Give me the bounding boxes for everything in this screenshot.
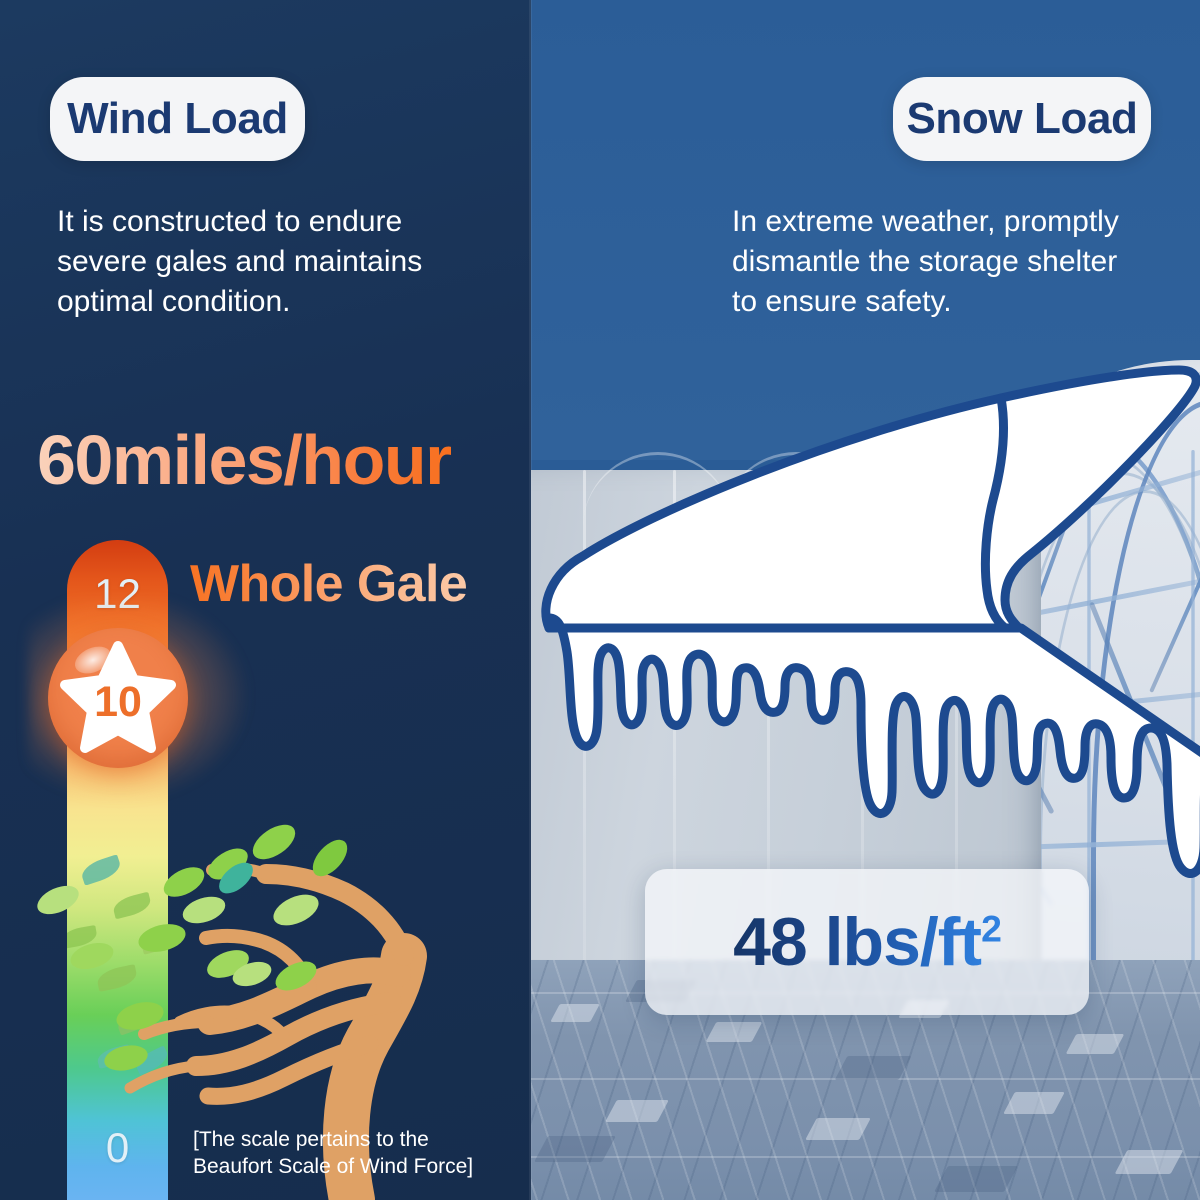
wind-load-description: It is constructed to endure severe gales… [57, 202, 487, 322]
snow-load-panel [531, 0, 1200, 1200]
snow-load-value-card: 48 lbs/ft2 [645, 869, 1089, 1015]
snow-load-pill-label: Snow Load [906, 94, 1137, 144]
panel-divider [529, 0, 532, 1200]
paver-highlight [805, 1118, 871, 1140]
tarp-arc-3 [861, 452, 1011, 635]
gale-category-label: Whole Gale [190, 554, 467, 614]
beaufort-scale-footnote: [The scale pertains to the Beaufort Scal… [193, 1126, 493, 1180]
snow-load-value: 48 lbs/ft2 [733, 903, 1001, 981]
paver-highlight [1003, 1092, 1065, 1114]
paver-shadow [835, 1056, 912, 1080]
wind-speed-headline: 60miles/hour [37, 420, 451, 500]
beaufort-level-badge[interactable]: 10 [48, 628, 188, 768]
paver-highlight [1115, 1150, 1184, 1174]
wind-load-pill[interactable]: Wind Load [50, 77, 305, 161]
snow-load-value-exponent: 2 [981, 907, 1001, 949]
vertical-post-3 [1191, 450, 1195, 970]
paver-shadow [934, 1166, 1018, 1192]
infographic-poster: 12 0 10 Wind Load Snow Load It is constr… [0, 0, 1200, 1200]
badge-value-label: 10 [48, 678, 188, 727]
paver-highlight [605, 1100, 669, 1122]
ground-band-3 [531, 1156, 1200, 1158]
snow-load-pill[interactable]: Snow Load [893, 77, 1151, 161]
snow-load-description: In extreme weather, promptly dismantle t… [732, 202, 1162, 322]
storage-shelter-photo [531, 0, 1200, 1200]
paver-highlight [706, 1022, 763, 1042]
snow-load-value-text: 48 lbs/ft [733, 904, 981, 980]
paver-highlight [1066, 1034, 1125, 1054]
tarp-arc-1 [583, 452, 733, 635]
wind-load-pill-label: Wind Load [67, 94, 288, 144]
tarp-arc-2 [721, 452, 871, 635]
